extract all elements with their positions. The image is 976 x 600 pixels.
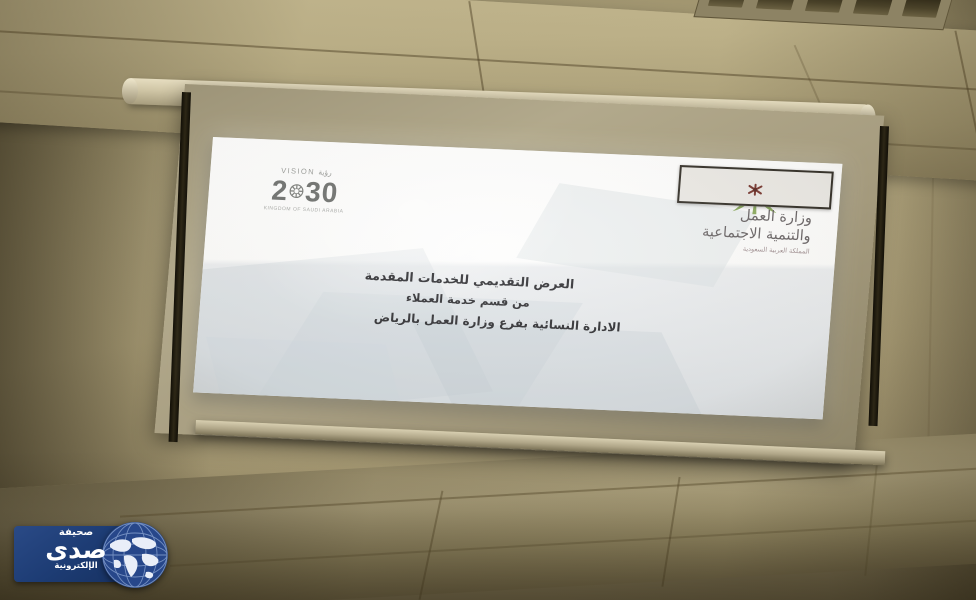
sada-news-watermark: صحيفة صدى الإلكترونية [6,516,184,592]
projected-slide[interactable]: VISION رؤية 2 30 KINGDOM OF SAUDI ARABIA [193,137,842,419]
slide-vignette [193,137,842,419]
vent-slat [805,0,846,13]
vent-slat [708,0,749,8]
vent-slat [853,0,894,15]
roller-cap-left [122,78,139,105]
room-photo-scene: VISION رؤية 2 30 KINGDOM OF SAUDI ARABIA [0,0,976,600]
vent-slat [756,0,797,10]
watermark-bottom-text: الإلكترونية [20,562,132,571]
vent-slat [901,0,942,18]
watermark-main-text: صدى [20,537,132,562]
watermark-text: صحيفة صدى الإلكترونية [20,528,132,571]
